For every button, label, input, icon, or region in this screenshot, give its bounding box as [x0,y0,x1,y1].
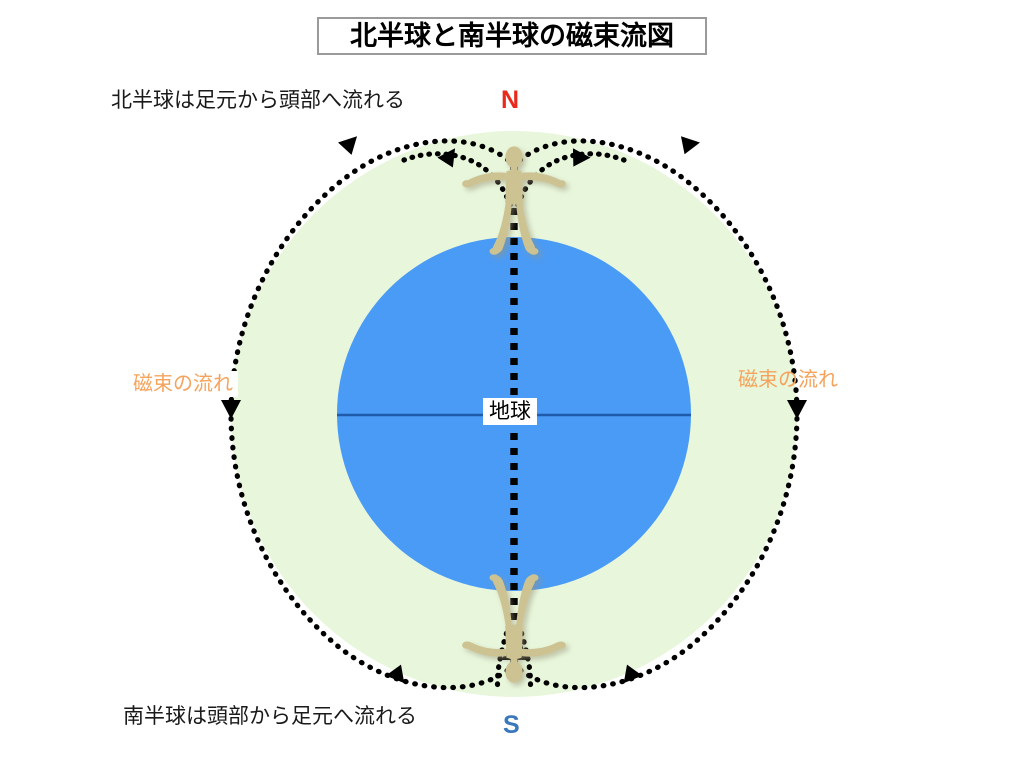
flux-flow-label-left: 磁束の流れ [128,371,238,397]
diagram-title-box: 北半球と南半球の磁束流図 [317,17,707,55]
diagram-canvas: 北半球と南半球の磁束流図 北半球は足元から頭部へ流れる 南半球は頭部から足元へ流… [0,0,1024,768]
earth-label: 地球 [483,398,537,425]
caption-southern-hemisphere: 南半球は頭部から足元へ流れる [123,706,417,727]
page-title: 北半球と南半球の磁束流図 [350,23,674,50]
north-pole-label: N [501,88,519,113]
south-pole-label: S [503,713,520,738]
arrowhead-north-outer-left [338,136,362,157]
flux-flow-label-right: 磁束の流れ [733,367,843,393]
arrowhead-north-outer-right [676,136,700,157]
caption-northern-hemisphere: 北半球は足元から頭部へ流れる [111,90,405,111]
